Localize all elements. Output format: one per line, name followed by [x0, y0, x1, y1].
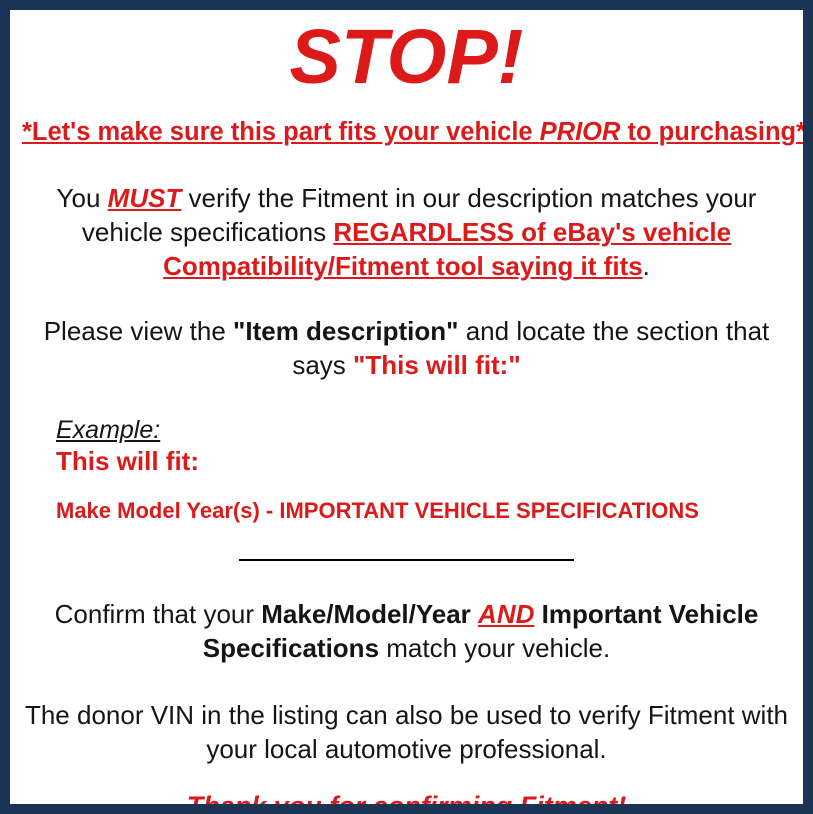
item-description-paragraph: Please view the "Item description" and l… [22, 314, 791, 383]
confirm-space-2 [534, 599, 541, 629]
must-paragraph-segment-3: . [643, 251, 650, 281]
item-description-label: "Item description" [233, 316, 458, 346]
stop-heading: STOP! [22, 10, 791, 99]
fitment-notice-card: STOP! *Let's make sure this part fits yo… [0, 0, 813, 814]
confirm-segment-1: Confirm that your [55, 599, 262, 629]
example-vehicle-spec-line: Make Model Year(s) - IMPORTANT VEHICLE S… [56, 498, 791, 524]
subtitle-suffix: to purchasing* [620, 118, 806, 146]
confirm-space-1 [471, 599, 478, 629]
example-label: Example: [56, 415, 160, 446]
notice-content-area: STOP! *Let's make sure this part fits yo… [10, 10, 803, 804]
donor-vin-paragraph: The donor VIN in the listing can also be… [22, 698, 791, 767]
confirm-paragraph: Confirm that your Make/Model/Year AND Im… [22, 597, 791, 666]
subtitle-emphasis-prior: PRIOR [540, 118, 621, 146]
example-block: Example: This will fit: Make Model Year(… [22, 415, 791, 525]
subtitle-line: *Let's make sure this part fits your veh… [22, 117, 791, 148]
must-paragraph-segment-1: You [57, 183, 108, 213]
and-emphasis: AND [478, 599, 534, 629]
make-model-year-bold: Make/Model/Year [261, 599, 471, 629]
divider-wrapper [22, 551, 791, 569]
must-verify-paragraph: You MUST verify the Fitment in our descr… [22, 181, 791, 284]
confirm-segment-2: match your vehicle. [379, 633, 610, 663]
this-will-fit-quote: "This will fit:" [353, 350, 521, 380]
item-desc-segment-1: Please view the [44, 316, 233, 346]
thank-you-line: Thank you for confirming Fitment! [22, 790, 791, 814]
horizontal-divider [239, 559, 574, 561]
subtitle-prefix: *Let's make sure this part fits your veh… [22, 118, 540, 146]
example-label-row: Example: [56, 415, 791, 446]
must-emphasis: MUST [108, 183, 182, 213]
example-this-will-fit-heading: This will fit: [56, 446, 791, 477]
